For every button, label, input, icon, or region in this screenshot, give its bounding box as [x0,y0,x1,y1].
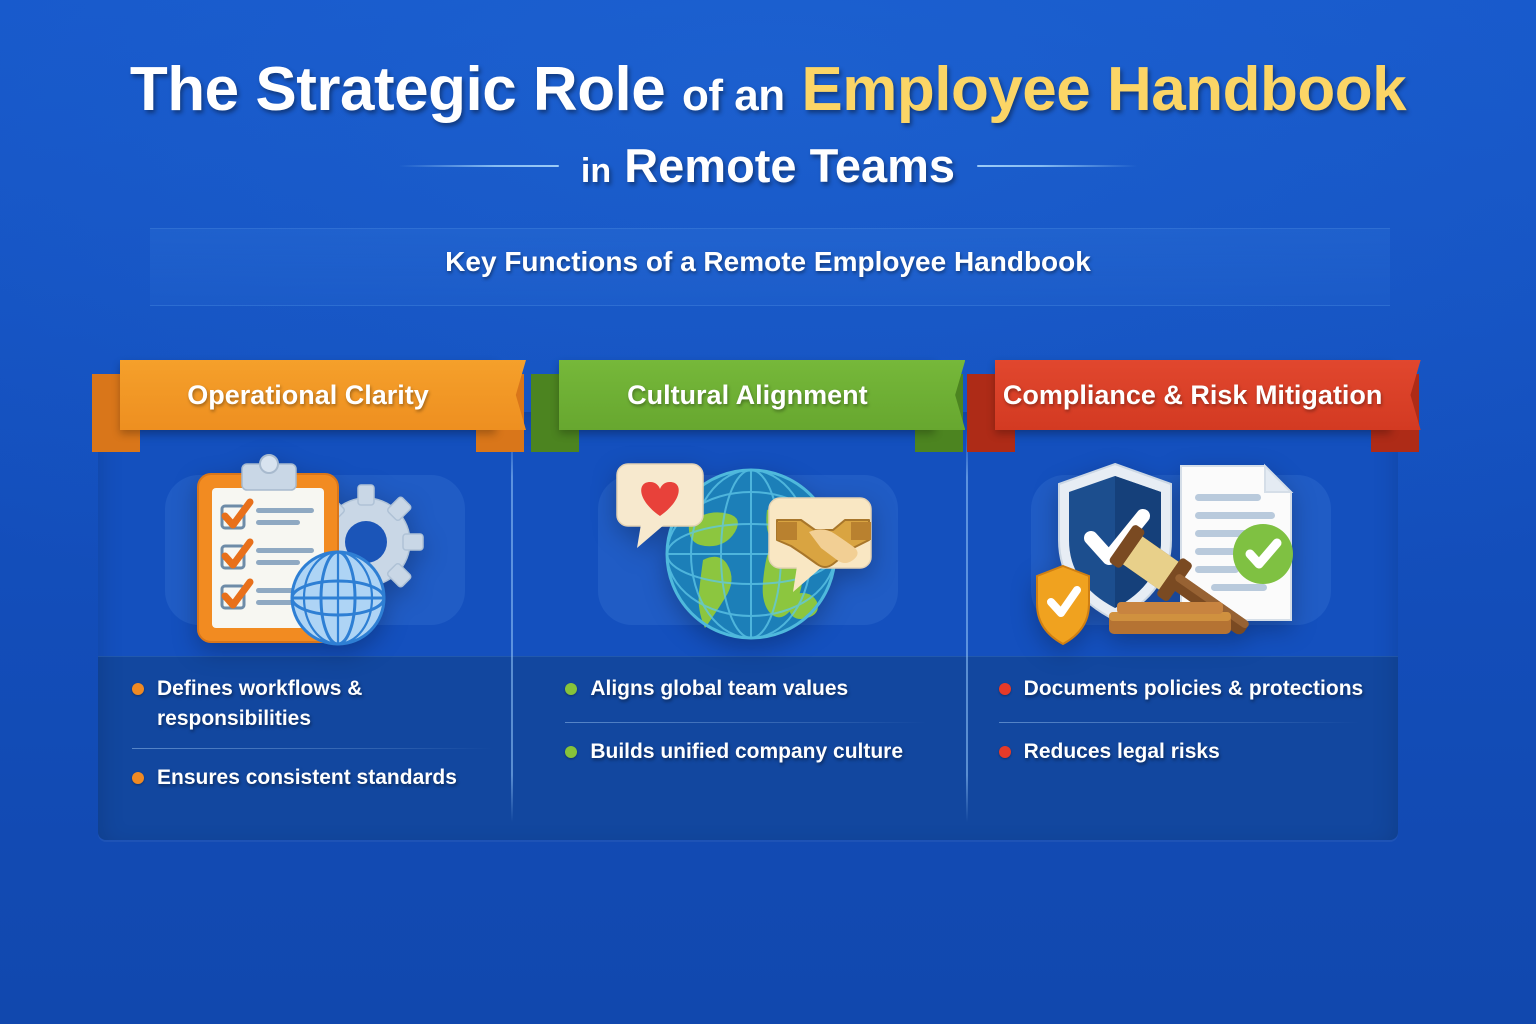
ribbon-body: Cultural Alignment [559,360,935,430]
title-part-2: of an [682,71,785,120]
bullet-item: Ensures consistent standards [132,763,497,797]
banner-label: Operational Clarity [187,380,429,411]
page-title: The Strategic Role of an Employee Handbo… [0,58,1536,122]
title-line-2-small: in [581,152,611,190]
column-operational-clarity: Operational Clarity [98,412,531,840]
small-shield-check-icon [1037,566,1089,644]
bullet-text: Aligns global team values [590,674,848,704]
column-compliance-risk-mitigation: Compliance & Risk Mitigation [965,412,1398,840]
title-rule-left [399,165,559,167]
title-rule-right [977,165,1137,167]
bullet-item: Reduces legal risks [999,737,1364,771]
title-line-2-main: Remote Teams [624,139,955,192]
columns-container: Operational Clarity [98,412,1398,840]
bullet-dot-icon [999,683,1011,695]
bullet-dot-icon [999,746,1011,758]
bullet-divider [565,722,926,723]
title-part-1: The Strategic Role [130,55,665,124]
infographic-stage: The Strategic Role of an Employee Handbo… [0,0,1536,1024]
shield-gavel-document-check-icon [1031,450,1331,650]
title-line-2-row: in Remote Teams [0,138,1536,193]
bullet-item: Defines workflows & responsibilities [132,674,497,734]
bullet-text: Ensures consistent standards [157,763,457,793]
column-cultural-alignment: Cultural Alignment [531,412,964,840]
bullet-dot-icon [132,772,144,784]
title-part-3: Employee Handbook [801,55,1406,124]
globe-heart-handshake-icon [603,450,893,650]
bullets-compliance-risk-mitigation: Documents policies & protections Reduces… [965,674,1398,771]
banner-label: Compliance & Risk Mitigation [1003,380,1383,411]
icon-area-compliance-risk-mitigation [965,444,1398,656]
banner-compliance-risk-mitigation[interactable]: Compliance & Risk Mitigation [983,360,1403,430]
bullet-item: Aligns global team values [565,674,930,708]
bullet-text: Documents policies & protections [1024,674,1364,704]
banner-cultural-alignment[interactable]: Cultural Alignment [547,360,947,430]
ribbon-body: Compliance & Risk Mitigation [995,360,1391,430]
bullet-dot-icon [565,746,577,758]
bullet-divider [999,722,1360,723]
banner-operational-clarity[interactable]: Operational Clarity [108,360,508,430]
title-line-1: The Strategic Role of an Employee Handbo… [0,58,1536,122]
bullet-text: Reduces legal risks [1024,737,1220,767]
icon-area-cultural-alignment [531,444,964,656]
bullet-text: Defines workflows & responsibilities [157,674,497,734]
bullets-operational-clarity: Defines workflows & responsibilities Ens… [98,674,531,797]
bullet-item: Builds unified company culture [565,737,930,771]
bullet-divider [132,748,493,749]
ribbon-body: Operational Clarity [120,360,496,430]
green-check-badge [1233,524,1293,584]
subtitle: Key Functions of a Remote Employee Handb… [0,246,1536,278]
title-line-2: in Remote Teams [581,138,955,193]
bullet-dot-icon [565,683,577,695]
clipboard-checklist-gear-globe-icon [170,450,460,650]
bullet-item: Documents policies & protections [999,674,1364,708]
banner-label: Cultural Alignment [627,380,868,411]
icon-area-operational-clarity [98,444,531,656]
bullet-dot-icon [132,683,144,695]
content-panel: Operational Clarity [98,412,1398,840]
bullet-text: Builds unified company culture [590,737,903,767]
bullets-cultural-alignment: Aligns global team values Builds unified… [531,674,964,771]
